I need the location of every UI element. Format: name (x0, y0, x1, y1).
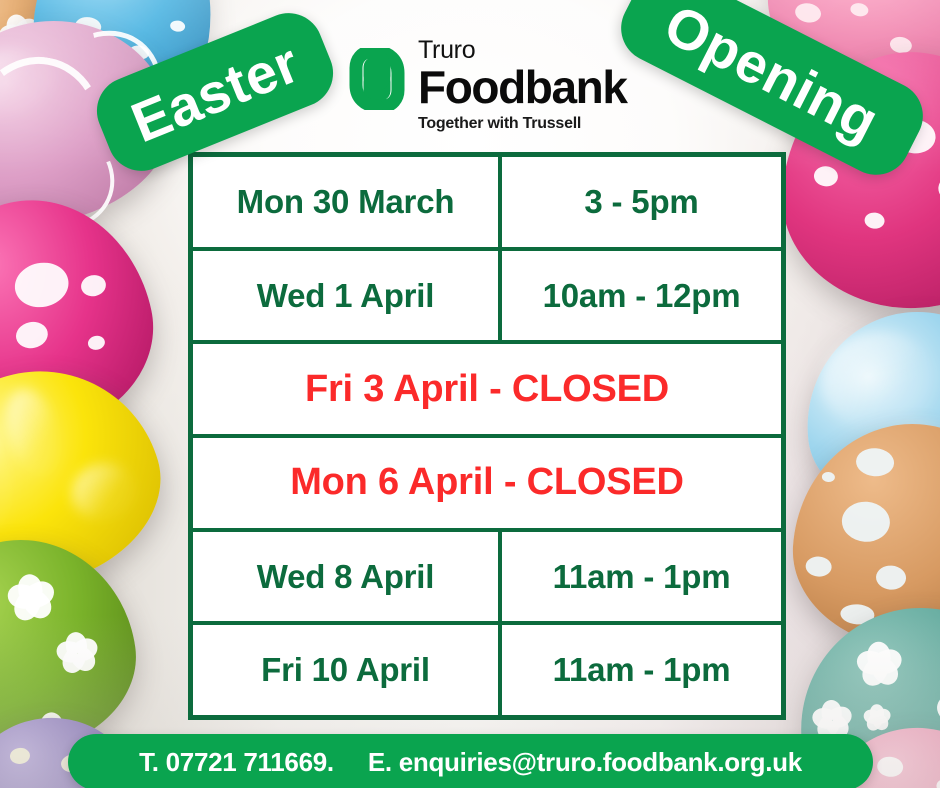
table-cell-day: Wed 1 April (193, 251, 502, 341)
table-row: Fri 10 April 11am - 1pm (193, 625, 781, 715)
table-cell-day: Mon 30 March (193, 157, 502, 247)
table-cell-day: Wed 8 April (193, 532, 502, 622)
table-row-closed: Mon 6 April - CLOSED (193, 438, 781, 532)
table-cell-closed: Fri 3 April - CLOSED (193, 344, 781, 434)
logo-wordmark: Truro Foodbank Together with Trussell (418, 38, 608, 133)
contact-footer: T. 07721 711669. E. enquiries@truro.food… (68, 734, 873, 788)
trussell-swoosh-icon (346, 48, 408, 110)
table-cell-time: 3 - 5pm (502, 157, 781, 247)
table-cell-time: 11am - 1pm (502, 625, 781, 715)
contact-phone: T. 07721 711669. (139, 747, 334, 778)
table-cell-time: 10am - 12pm (502, 251, 781, 341)
logo-tagline: Together with Trussell (418, 115, 608, 133)
table-row: Wed 8 April 11am - 1pm (193, 532, 781, 626)
table-row: Wed 1 April 10am - 12pm (193, 251, 781, 345)
table-cell-day: Fri 10 April (193, 625, 502, 715)
table-cell-time: 11am - 1pm (502, 532, 781, 622)
logo-line-foodbank: Foodbank (418, 64, 608, 111)
easter-opening-poster: Mon 30 March 3 - 5pm Wed 1 April 10am - … (0, 0, 940, 788)
contact-email[interactable]: E. enquiries@truro.foodbank.org.uk (368, 747, 802, 778)
truro-foodbank-logo: Truro Foodbank Together with Trussell (340, 38, 608, 138)
table-row-closed: Fri 3 April - CLOSED (193, 344, 781, 438)
opening-hours-table: Mon 30 March 3 - 5pm Wed 1 April 10am - … (188, 152, 786, 720)
table-cell-closed: Mon 6 April - CLOSED (193, 438, 781, 528)
table-row: Mon 30 March 3 - 5pm (193, 157, 781, 251)
logo-line-truro: Truro (418, 38, 608, 63)
